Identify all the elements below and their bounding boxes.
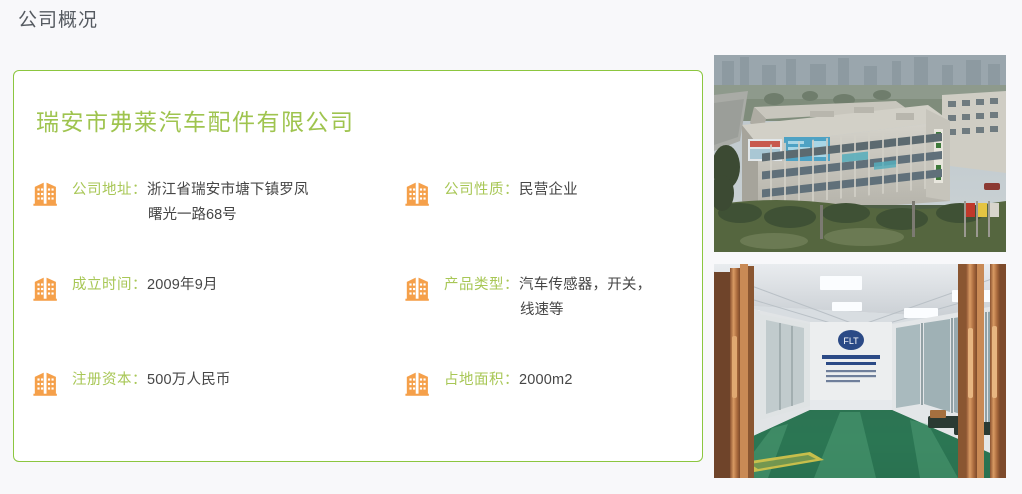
info-value: 浙江省瑞安市塘下镇罗凤 <box>147 182 309 198</box>
building-icon <box>404 366 434 398</box>
info-value: 2009年9月 <box>147 277 218 293</box>
info-label: 成立时间： <box>72 277 147 293</box>
building-icon <box>404 271 434 303</box>
company-info-grid: 公司地址：浙江省瑞安市塘下镇罗凤 曙光一路68号 <box>32 171 692 456</box>
info-text: 公司性质：民营企业 <box>444 175 578 203</box>
info-item-product-type: 产品类型：汽车传感器，开关， 线速等 <box>404 266 704 323</box>
page-title: 公司概况 <box>18 6 98 36</box>
info-label: 公司性质： <box>444 182 519 198</box>
info-value: 汽车传感器，开关， <box>519 277 651 293</box>
info-item-company-nature: 公司性质：民营企业 <box>404 171 704 208</box>
building-icon <box>32 176 62 208</box>
info-text: 产品类型：汽车传感器，开关， 线速等 <box>444 270 651 323</box>
building-icon <box>32 271 62 303</box>
svg-text:FLT: FLT <box>843 336 859 346</box>
company-overview-card: 瑞安市弗莱汽车配件有限公司 <box>13 70 703 462</box>
info-item-registered-capital: 注册资本：500万人民币 <box>32 361 404 398</box>
info-value-superscript: 2 <box>564 372 572 388</box>
info-label: 产品类型： <box>444 277 519 293</box>
info-row: 成立时间：2009年9月 <box>32 266 692 361</box>
info-label: 公司地址： <box>72 182 147 198</box>
info-item-site-area: 占地面积：2000m2 <box>404 361 704 398</box>
info-label: 注册资本： <box>72 372 147 388</box>
building-icon <box>32 366 62 398</box>
info-value: 2000m <box>519 372 564 388</box>
info-label: 占地面积： <box>444 372 519 388</box>
info-row: 注册资本：500万人民币 <box>32 361 692 456</box>
info-value-line2: 线速等 <box>444 298 651 323</box>
info-value: 500万人民币 <box>147 372 231 388</box>
info-item-company-address: 公司地址：浙江省瑞安市塘下镇罗凤 曙光一路68号 <box>32 171 404 228</box>
factory-exterior-aerial-photo <box>714 55 1006 252</box>
info-text: 成立时间：2009年9月 <box>72 270 218 298</box>
company-name: 瑞安市弗莱汽车配件有限公司 <box>36 103 355 137</box>
info-item-founding-date: 成立时间：2009年9月 <box>32 266 404 303</box>
building-icon <box>404 176 434 208</box>
info-text: 占地面积：2000m2 <box>444 365 573 393</box>
factory-interior-corridor-photo: FLT <box>714 264 1006 478</box>
info-text: 公司地址：浙江省瑞安市塘下镇罗凤 曙光一路68号 <box>72 175 309 228</box>
info-value-line2: 曙光一路68号 <box>72 203 309 228</box>
info-text: 注册资本：500万人民币 <box>72 365 231 393</box>
info-value: 民营企业 <box>519 182 578 198</box>
info-row: 公司地址：浙江省瑞安市塘下镇罗凤 曙光一路68号 <box>32 171 692 266</box>
